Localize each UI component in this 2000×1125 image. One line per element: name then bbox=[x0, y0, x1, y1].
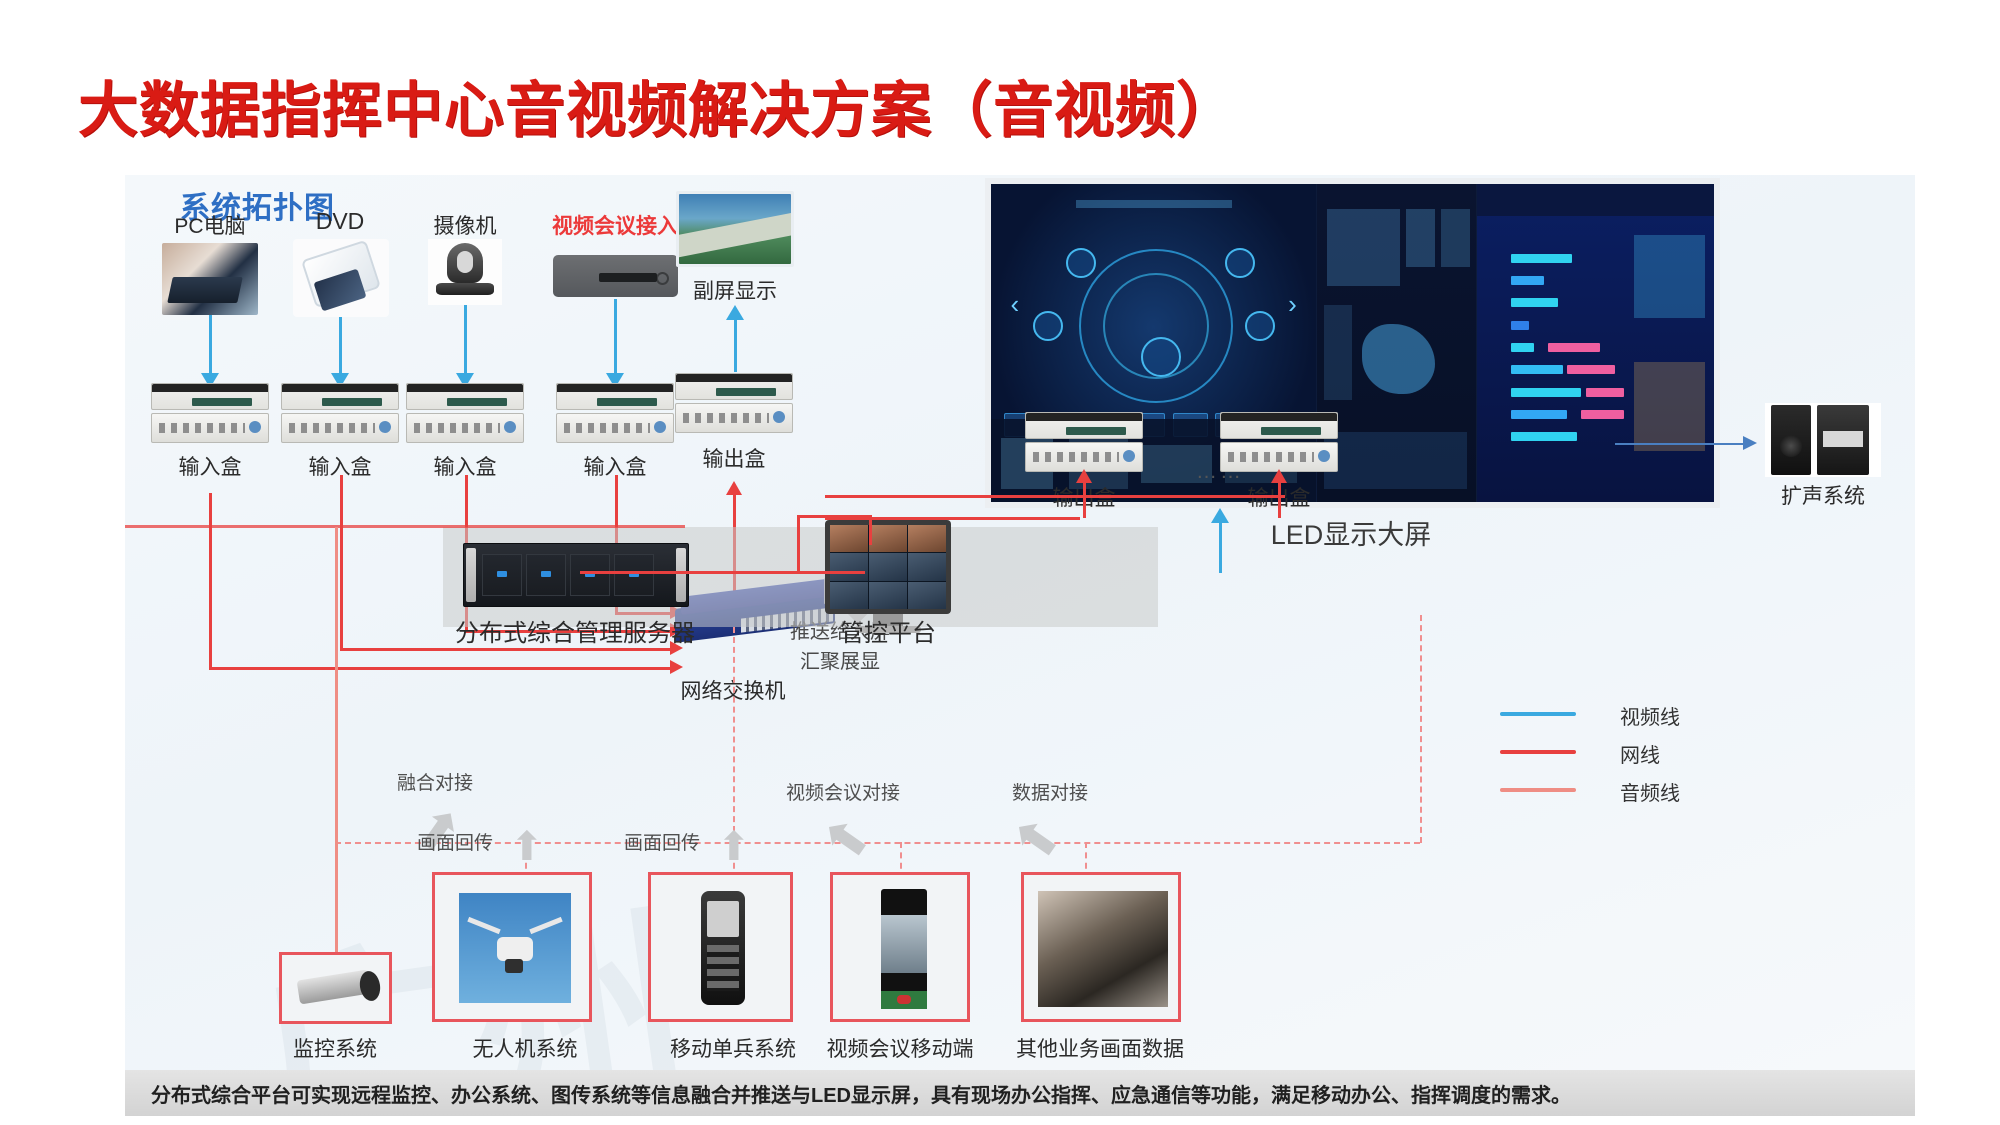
arrow-right-icon bbox=[670, 660, 683, 674]
source-label-camera: 摄像机 bbox=[434, 210, 497, 240]
input-box-device-4 bbox=[556, 383, 674, 445]
footnote-text: 分布式综合平台可实现远程监控、办公系统、图传系统等信息融合并推送与LED显示屏，… bbox=[151, 1079, 1571, 1108]
annotation-image-return-2: 画面回传 bbox=[624, 828, 700, 855]
secondary-display-screen bbox=[676, 191, 794, 267]
output-box-center-label: 输出盒 bbox=[703, 443, 766, 473]
source-label-video-conference: 视频会议接入 bbox=[552, 210, 678, 240]
net-wire-output-left bbox=[1083, 480, 1086, 518]
source-label-pc: PC电脑 bbox=[174, 210, 245, 240]
dashed-link-center bbox=[733, 627, 735, 842]
video-wire-ledwall bbox=[1219, 515, 1222, 573]
legend-row-net: 网线 bbox=[1500, 733, 1800, 771]
arrow-right-icon bbox=[1743, 436, 1757, 450]
push-note-line2: 汇聚展显 bbox=[800, 645, 880, 674]
arrow-up-icon: ⬆ bbox=[717, 827, 751, 867]
video-wire-camera bbox=[464, 305, 467, 377]
audio-wire-cctv bbox=[335, 527, 338, 677]
video-wire-vc bbox=[614, 299, 617, 377]
net-wire-output-right bbox=[1278, 480, 1281, 518]
bottom-label-drone: 无人机系统 bbox=[473, 1033, 578, 1063]
arrow-up-left-icon: ⬆ bbox=[813, 806, 883, 874]
management-server-device bbox=[463, 543, 689, 607]
drone-icon bbox=[459, 893, 571, 1003]
legend-swatch-net bbox=[1500, 750, 1576, 754]
net-wire-in2-v bbox=[340, 475, 343, 651]
video-wire-dvd bbox=[339, 317, 342, 377]
arrow-up-icon: ⬆ bbox=[510, 827, 544, 867]
net-wire-server-to-switch bbox=[685, 571, 865, 574]
footnote-bar: 分布式综合平台可实现远程监控、办公系统、图传系统等信息融合并推送与LED显示屏，… bbox=[125, 1070, 1915, 1116]
net-wire-in1-h bbox=[209, 667, 671, 670]
pc-icon bbox=[162, 243, 258, 315]
bottom-label-cctv: 监控系统 bbox=[293, 1033, 377, 1063]
dashed-link-right-riser bbox=[1420, 615, 1422, 843]
arrow-up-icon bbox=[1076, 469, 1092, 483]
dvd-icon bbox=[293, 239, 389, 317]
output-box-left-device bbox=[1025, 412, 1143, 474]
input-box-label-1: 输入盒 bbox=[179, 451, 242, 481]
legend-swatch-video bbox=[1500, 712, 1576, 716]
topology-diagram-canvas: 广州 系统拓扑图 PC电脑 DVD 摄像机 视频会议接入 输入盒 输入盒 输入盒… bbox=[125, 175, 1915, 1070]
legend-label-video: 视频线 bbox=[1620, 701, 1680, 730]
bottom-card-mobile-vc[interactable] bbox=[830, 872, 970, 1022]
arrow-up-icon bbox=[726, 481, 742, 495]
operators-photo-icon bbox=[1038, 891, 1168, 1007]
arrow-up-icon bbox=[726, 305, 744, 320]
net-wire-platform-top bbox=[797, 515, 871, 518]
bottom-card-soldier[interactable] bbox=[648, 872, 793, 1022]
annotation-data-link: 数据对接 bbox=[1012, 778, 1088, 805]
speaker-system-label: 扩声系统 bbox=[1781, 480, 1865, 510]
input-box-device-2 bbox=[281, 383, 399, 445]
net-wire-in2-h bbox=[340, 648, 671, 651]
output-box-right-device bbox=[1220, 412, 1338, 474]
mobile-video-call-icon bbox=[881, 889, 927, 1009]
source-label-dvd: DVD bbox=[316, 208, 365, 235]
monitor-wire-cctv bbox=[335, 675, 338, 952]
net-wire-switch-to-outputs bbox=[825, 495, 1285, 498]
secondary-display-label: 副屏显示 bbox=[693, 275, 777, 305]
bottom-label-other: 其他业务画面数据 bbox=[1016, 1033, 1184, 1063]
led-wall-label: LED显示大屏 bbox=[1271, 513, 1432, 552]
arrow-up-icon bbox=[1271, 469, 1287, 483]
net-wire-platform-vert bbox=[869, 515, 872, 545]
legend-row-video: 视频线 bbox=[1500, 695, 1800, 733]
video-conference-box-icon bbox=[553, 255, 678, 297]
management-server-label: 分布式综合管理服务器 bbox=[455, 613, 695, 648]
annotation-video-conference: 视频会议对接 bbox=[786, 778, 900, 805]
legend-row-audio: 音频线 bbox=[1500, 771, 1800, 809]
annotation-fusion: 融合对接 bbox=[397, 768, 473, 795]
rugged-phone-icon bbox=[701, 891, 745, 1005]
arrow-up-left-icon: ⬆ bbox=[1003, 806, 1073, 874]
audio-return-wire bbox=[125, 525, 685, 528]
legend-label-net: 网线 bbox=[1620, 739, 1660, 768]
bottom-card-other[interactable] bbox=[1021, 872, 1181, 1022]
net-wire-in1-v bbox=[209, 493, 212, 670]
bottom-label-soldier: 移动单兵系统 bbox=[670, 1033, 796, 1063]
bottom-label-mobile-vc: 视频会议移动端 bbox=[827, 1033, 974, 1063]
speaker-system-icon bbox=[1765, 403, 1881, 477]
arrow-up-icon bbox=[1211, 508, 1229, 523]
camera-icon bbox=[428, 239, 502, 305]
legend-swatch-audio bbox=[1500, 788, 1576, 792]
control-platform-label: 管控平台 bbox=[840, 613, 936, 648]
legend: 视频线 网线 音频线 bbox=[1500, 695, 1800, 809]
net-wire-server-right bbox=[580, 571, 690, 574]
input-box-device-1 bbox=[151, 383, 269, 445]
annotation-image-return-1: 画面回传 bbox=[417, 828, 493, 855]
net-wire-switch-vert bbox=[797, 515, 800, 573]
bottom-card-drone[interactable] bbox=[432, 872, 592, 1022]
video-wire-pc bbox=[209, 315, 212, 377]
input-box-device-3 bbox=[406, 383, 524, 445]
page-title: 大数据指挥中心音视频解决方案（音视频） bbox=[78, 62, 1237, 149]
legend-label-audio: 音频线 bbox=[1620, 777, 1680, 806]
audio-wire-speaker bbox=[1615, 443, 1747, 445]
output-box-center-device bbox=[675, 373, 793, 435]
bottom-card-cctv[interactable] bbox=[279, 952, 392, 1024]
